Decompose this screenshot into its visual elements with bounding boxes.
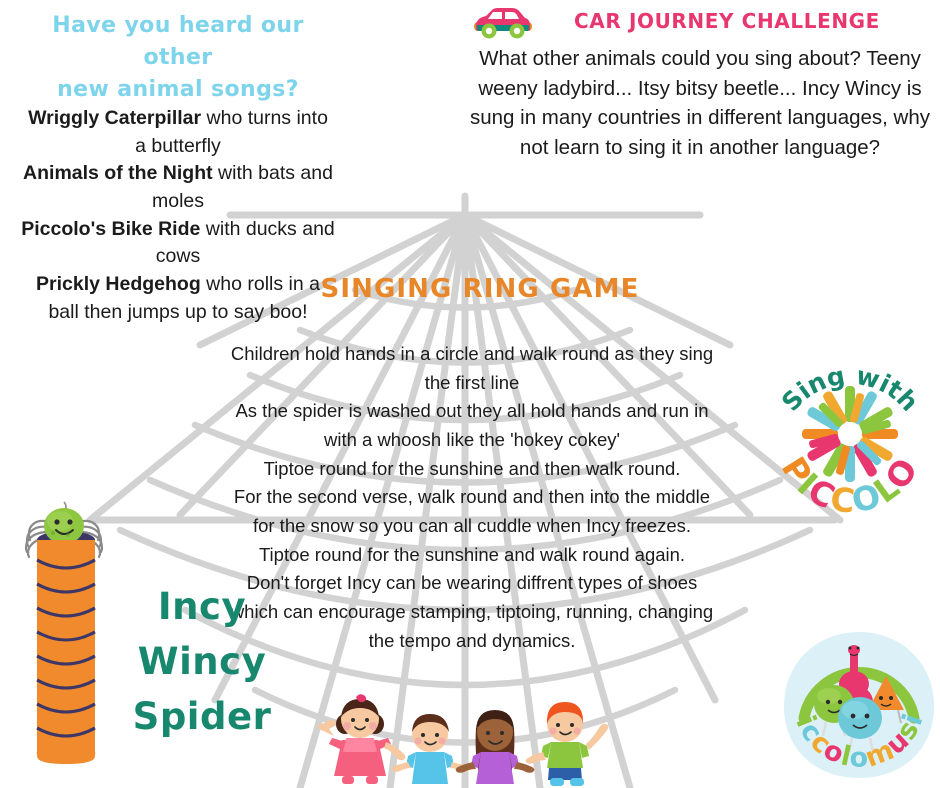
instruction-line: For the second verse, walk round and the… bbox=[228, 483, 716, 540]
song-title-word-1: Incy bbox=[112, 580, 292, 635]
child-boy-green bbox=[526, 702, 609, 786]
instruction-line: Tiptoe round for the sunshine and then w… bbox=[228, 455, 716, 484]
car-journey-title: CAR JOURNEY CHALLENGE bbox=[470, 6, 930, 36]
car-journey-line: Itsy bitsy beetle... bbox=[638, 77, 796, 100]
car-journey-challenge-block: CAR JOURNEY CHALLENGE What other animals… bbox=[470, 6, 930, 162]
song-title: Animals of the Night bbox=[23, 162, 213, 184]
child-girl-purple bbox=[456, 710, 535, 784]
car-journey-header: CAR JOURNEY CHALLENGE bbox=[470, 6, 930, 40]
car-journey-text: What other animals could you sing about?… bbox=[470, 44, 930, 162]
page-heading: Have you heard our other new animal song… bbox=[18, 10, 338, 106]
singing-ring-game-instructions: Children hold hands in a circle and walk… bbox=[228, 340, 716, 655]
song-title: Prickly Hedgehog bbox=[36, 273, 201, 295]
instruction-line: Children hold hands in a circle and walk… bbox=[228, 340, 716, 397]
car-icon bbox=[472, 6, 534, 40]
child-boy-blue bbox=[392, 714, 470, 784]
car-journey-line: What other animals could you sing about? bbox=[479, 47, 861, 70]
list-item: Piccolo's Bike Ride with ducks and cows bbox=[20, 216, 336, 271]
heading-line-2: new animal songs? bbox=[57, 77, 299, 102]
song-title-word-2: Wincy bbox=[112, 635, 292, 690]
logo-letter: p bbox=[768, 602, 788, 633]
song-title: Piccolo's Bike Ride bbox=[21, 218, 200, 240]
children-holding-hands-illustration bbox=[312, 692, 628, 788]
instruction-line: Don't forget Incy can be wearing diffren… bbox=[228, 569, 716, 655]
drainpipe-with-spider-illustration bbox=[16, 498, 116, 788]
song-title: Incy Wincy Spider bbox=[112, 580, 292, 744]
logo-letter: c bbox=[769, 602, 786, 633]
child-girl-pink bbox=[318, 694, 405, 784]
sing-with-piccolo-logo: Sing with PICCOLO bbox=[762, 362, 938, 510]
list-item: Wriggly Caterpillar who turns into a but… bbox=[20, 105, 336, 160]
list-item: Animals of the Night with bats and moles bbox=[20, 160, 336, 215]
song-title: Wriggly Caterpillar bbox=[28, 107, 201, 129]
instruction-line: As the spider is washed out they all hol… bbox=[228, 397, 716, 454]
instruction-line: Tiptoe round for the sunshine and walk r… bbox=[228, 541, 716, 570]
heading-line-1: Have you heard our other bbox=[52, 13, 303, 70]
song-title-word-3: Spider bbox=[112, 690, 292, 745]
piccolomusic-logo: piccolomusic bbox=[778, 626, 940, 788]
singing-ring-game-title: SINGING RING GAME bbox=[250, 274, 710, 304]
